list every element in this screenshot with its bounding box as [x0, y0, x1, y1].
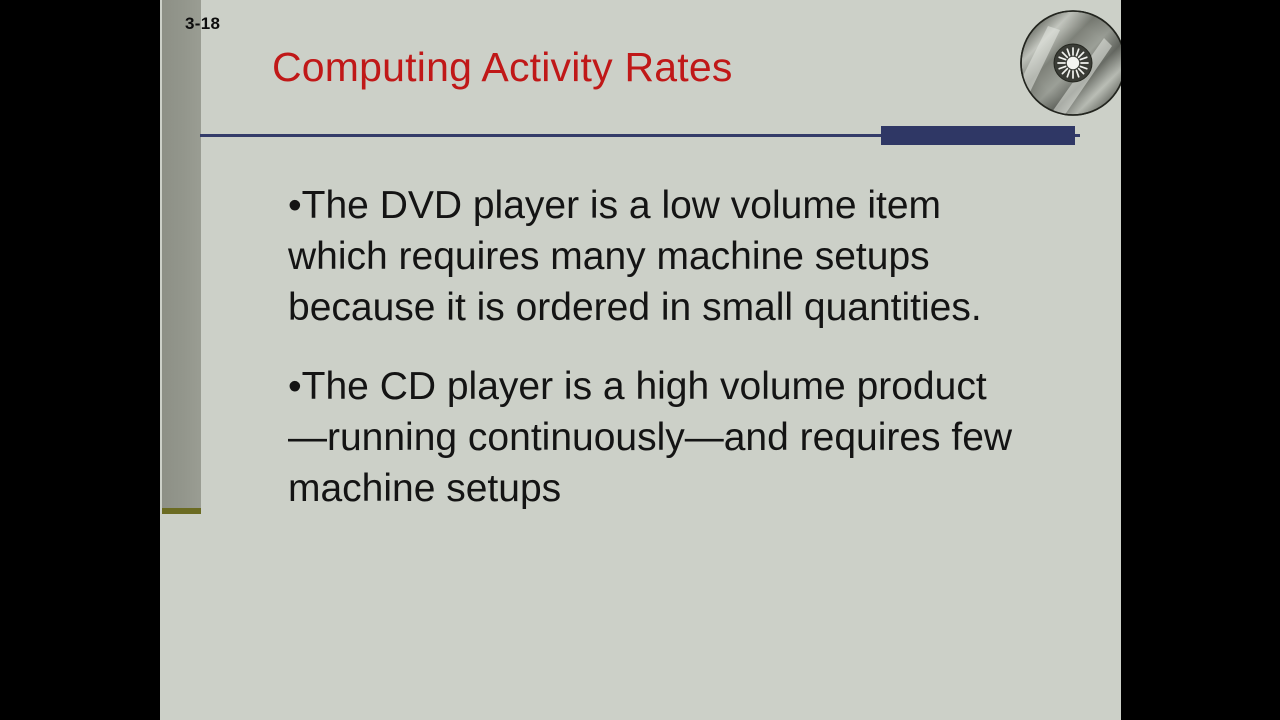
title-accent-block: [881, 126, 1075, 145]
bullet-item: •The DVD player is a low volume item whi…: [288, 180, 1018, 333]
left-decorative-band: [162, 0, 201, 512]
compact-disc-icon: [1018, 8, 1121, 118]
page-title: Computing Activity Rates: [272, 44, 733, 91]
letterbox-left: [0, 0, 160, 720]
slide-body: •The DVD player is a low volume item whi…: [288, 180, 1018, 514]
bullet-text: The CD player is a high volume product—r…: [288, 365, 1012, 510]
bullet-text: The DVD player is a low volume item whic…: [288, 184, 982, 329]
slide-canvas: 3-18 Computing Activity Rates: [160, 0, 1121, 720]
presentation-screen: 3-18 Computing Activity Rates: [0, 0, 1280, 720]
bullet-marker-icon: •: [288, 365, 302, 408]
bullet-item: •The CD player is a high volume product—…: [288, 361, 1018, 514]
letterbox-right: [1121, 0, 1280, 720]
slide-number: 3-18: [185, 14, 220, 34]
bullet-marker-icon: •: [288, 184, 302, 227]
left-band-accent-footer: [162, 508, 201, 514]
